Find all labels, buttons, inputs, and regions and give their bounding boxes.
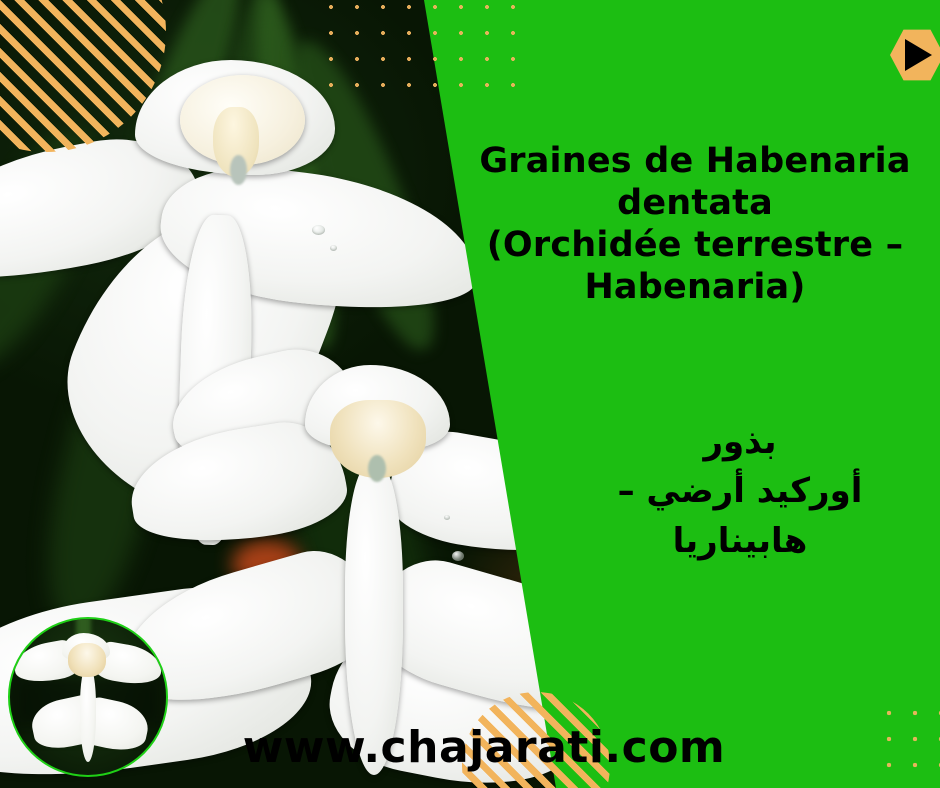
title-line-2: dentata (452, 182, 938, 224)
play-badge[interactable] (890, 28, 940, 82)
product-title-arabic: بذور أوركيد أرضي – هابيناريا (540, 418, 940, 566)
title-line-4: Habenaria) (452, 266, 938, 308)
orchid-stigma (368, 455, 386, 482)
water-droplet (444, 515, 450, 520)
play-icon (905, 39, 932, 71)
arabic-line-3: هابيناريا (540, 517, 940, 566)
poster-canvas: Graines de Habenaria dentata (Orchidée t… (0, 0, 940, 788)
arabic-line-2: أوركيد أرضي – (540, 467, 940, 516)
water-droplet (312, 225, 325, 235)
title-line-1: Graines de Habenaria (452, 140, 938, 182)
thumbnail-column (68, 643, 106, 677)
arabic-line-1: بذور (540, 418, 940, 467)
water-droplet (452, 551, 464, 561)
dot-grid-icon (318, 0, 536, 104)
water-droplet (330, 245, 337, 251)
product-title: Graines de Habenaria dentata (Orchidée t… (452, 140, 938, 308)
orchid-stigma (230, 155, 247, 185)
website-url[interactable]: www.chajarati.com (0, 722, 940, 773)
title-line-3: (Orchidée terrestre – (452, 224, 938, 266)
